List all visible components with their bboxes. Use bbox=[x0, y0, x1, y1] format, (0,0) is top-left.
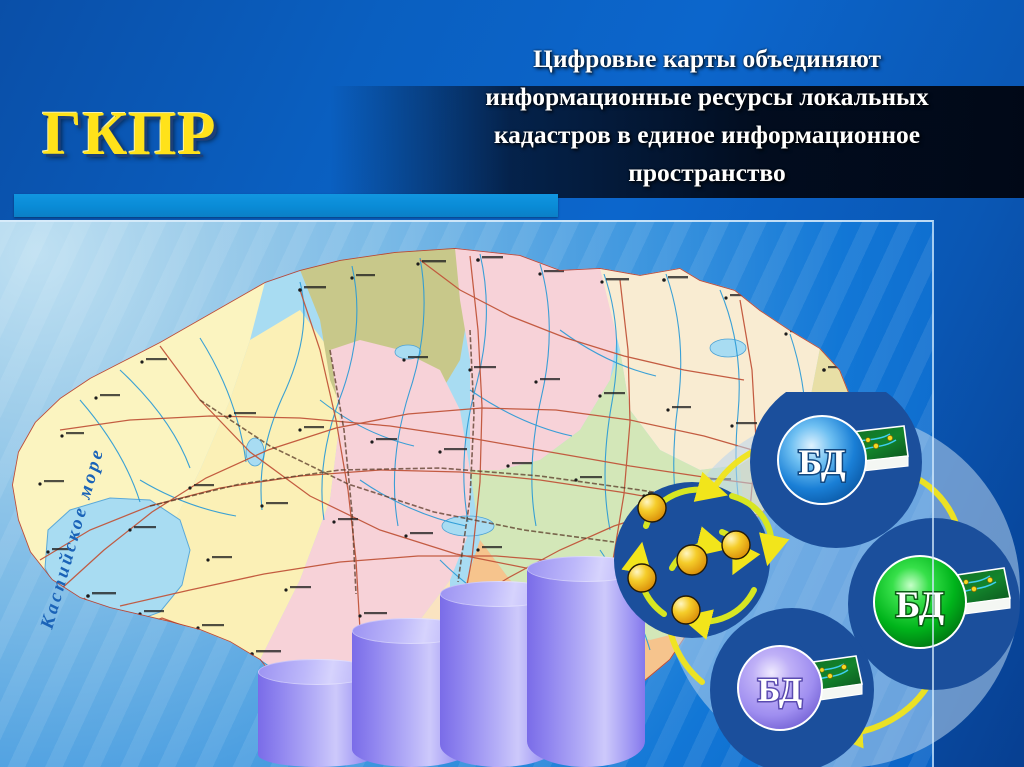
headline-line-4: пространство bbox=[400, 154, 1014, 192]
db-label: БД bbox=[758, 672, 803, 709]
headline: Цифровые карты объединяют информационные… bbox=[400, 40, 1014, 192]
hub-sphere bbox=[672, 596, 700, 624]
hub-sphere bbox=[722, 531, 750, 559]
headline-line-3: кадастров в единое информационное bbox=[400, 116, 1014, 154]
headline-line-2: информационные ресурсы локальных bbox=[400, 78, 1014, 116]
headline-line-1: Цифровые карты объединяют bbox=[400, 40, 1014, 78]
hub-sphere bbox=[677, 545, 707, 575]
accent-bar bbox=[14, 194, 558, 217]
hub-node bbox=[614, 482, 771, 638]
hub-sphere bbox=[638, 494, 666, 522]
page-title: ГКПР bbox=[42, 96, 282, 172]
database-node-bottom[interactable]: БД bbox=[710, 608, 874, 767]
diagram-svg: БД БД bbox=[604, 392, 1024, 767]
database-network-diagram: БД БД bbox=[604, 392, 1024, 767]
database-node-right[interactable]: БД bbox=[848, 518, 1020, 690]
presentation-slide: ГКПР Цифровые карты объединяют информаци… bbox=[0, 0, 1024, 767]
db-label: БД bbox=[896, 585, 945, 626]
hub-sphere bbox=[628, 564, 656, 592]
slide-header: ГКПР Цифровые карты объединяют информаци… bbox=[0, 0, 1024, 220]
db-label: БД bbox=[798, 442, 845, 482]
